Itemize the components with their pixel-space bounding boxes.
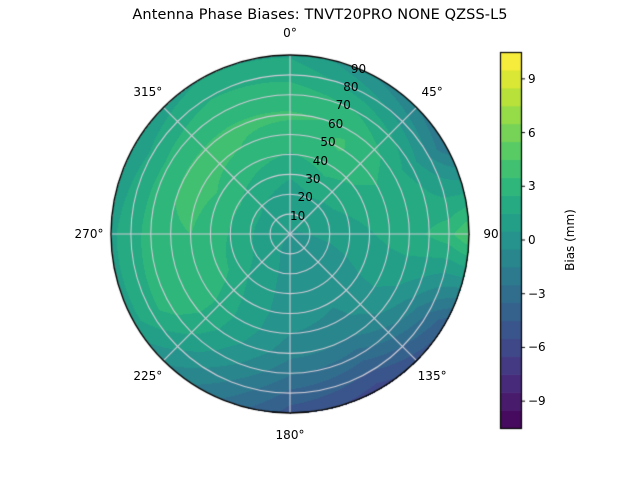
angular-tick-45: 45° — [421, 86, 442, 98]
angular-tick-315: 315° — [133, 86, 162, 98]
page-title: Antenna Phase Biases: TNVT20PRO NONE QZS… — [0, 8, 640, 23]
colorbar-tick-9: 9 — [528, 73, 536, 85]
angular-tick-270: 270° — [75, 228, 104, 240]
colorbar-tick-3: 3 — [528, 180, 536, 192]
radial-tick-40: 40 — [313, 155, 328, 167]
angular-tick-180: 180° — [276, 429, 305, 441]
colorbar-tick-neg9: −9 — [528, 395, 546, 407]
colorbar-tick-neg3: −3 — [528, 288, 546, 300]
radial-tick-90: 90 — [351, 63, 366, 75]
radial-tick-70: 70 — [336, 99, 351, 111]
figure-canvas: Antenna Phase Biases: TNVT20PRO NONE QZS… — [0, 0, 640, 480]
angular-tick-135: 135° — [418, 370, 447, 382]
radial-tick-30: 30 — [305, 173, 320, 185]
colorbar-tick-neg6: −6 — [528, 341, 546, 353]
angular-tick-0: 0° — [283, 27, 297, 39]
angular-tick-90: 90 — [483, 228, 498, 240]
colorbar-axis-label: Bias (mm) — [564, 209, 576, 271]
radial-tick-50: 50 — [320, 136, 335, 148]
radial-tick-60: 60 — [328, 118, 343, 130]
radial-tick-20: 20 — [298, 191, 313, 203]
colorbar-tick-6: 6 — [528, 127, 536, 139]
radial-tick-80: 80 — [343, 81, 358, 93]
radial-tick-10: 10 — [290, 210, 305, 222]
angular-tick-225: 225° — [133, 370, 162, 382]
colorbar-tick-0: 0 — [528, 234, 536, 246]
